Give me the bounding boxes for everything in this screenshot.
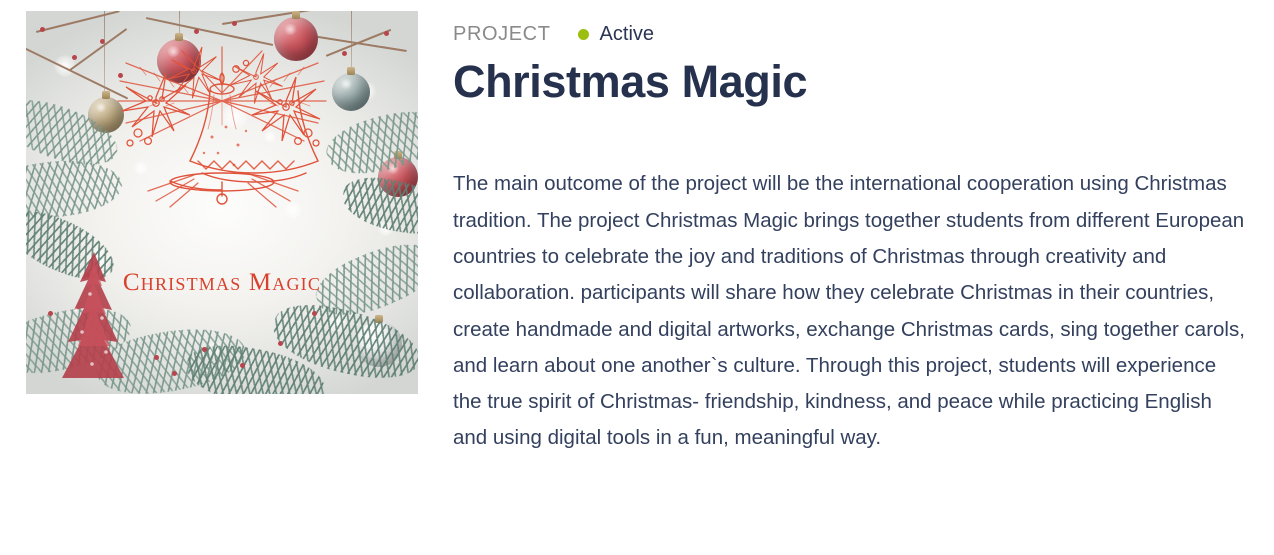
- berry: [278, 341, 283, 346]
- twig-branch: [222, 11, 331, 25]
- berry: [40, 27, 45, 32]
- project-type-label: PROJECT: [453, 23, 551, 46]
- project-description: The main outcome of the project will be …: [453, 166, 1248, 456]
- status-dot-icon: [578, 29, 589, 40]
- page-title: Christmas Magic: [453, 57, 1253, 107]
- twig-branch: [36, 11, 120, 33]
- project-meta-row: PROJECT Active: [453, 20, 1253, 48]
- berry: [384, 31, 389, 36]
- project-info-column: PROJECT Active Christmas Magic The main …: [453, 0, 1253, 457]
- berry: [240, 363, 245, 368]
- berry: [72, 55, 77, 60]
- status-label: Active: [600, 23, 654, 46]
- status-badge: Active: [578, 23, 654, 46]
- bell-bouquet-line-art: [86, 41, 358, 253]
- project-cover-image[interactable]: Christmas Magic: [26, 11, 418, 394]
- berry: [312, 311, 317, 316]
- cover-caption-text: Christmas Magic: [26, 269, 418, 297]
- berry: [194, 29, 199, 34]
- berry: [232, 21, 237, 26]
- berry: [202, 347, 207, 352]
- berry: [172, 371, 177, 376]
- project-detail-page: Christmas Magic PROJECT Active Christmas…: [0, 0, 1274, 555]
- cover-illustration: Christmas Magic: [26, 11, 418, 394]
